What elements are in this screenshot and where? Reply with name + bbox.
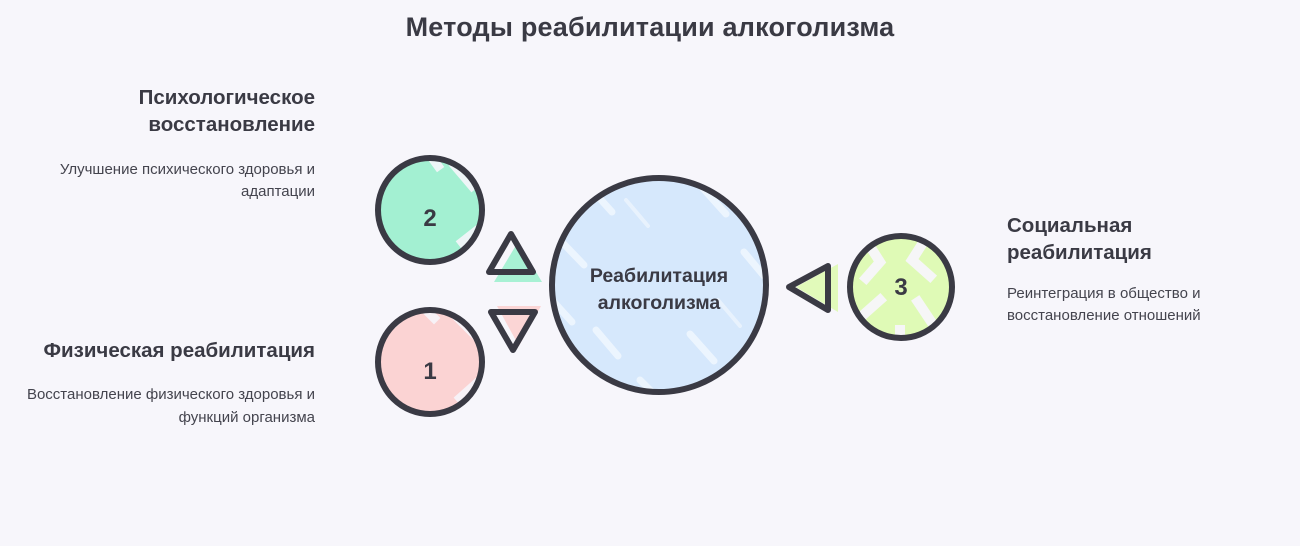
label-physical-rehabilitation: Физическая реабилитация Восстановление ф… (20, 337, 315, 429)
label-psychological-recovery-description: Улучшение психического здоровья и адапта… (20, 159, 315, 204)
label-social-rehabilitation: Социальная реабилитация Реинтеграция в о… (1007, 212, 1277, 328)
diagram-canvas: Методы реабилитации алкоголизма (0, 0, 1300, 546)
label-social-rehabilitation-description: Реинтеграция в общество и восстановление… (1007, 283, 1277, 328)
label-psychological-recovery-heading: Психологическое восстановление (20, 84, 315, 139)
hub-circle[interactable] (552, 178, 766, 404)
triangle-up-icon (489, 234, 542, 282)
label-physical-rehabilitation-description: Восстановление физического здоровья и фу… (20, 384, 315, 429)
node-circle-3[interactable] (850, 236, 952, 342)
triangle-left-icon (789, 264, 838, 312)
label-psychological-recovery: Психологическое восстановление Улучшение… (20, 84, 315, 204)
label-social-rehabilitation-heading: Социальная реабилитация (1007, 212, 1277, 267)
node-circle-2[interactable] (378, 155, 482, 264)
node-circle-1[interactable] (378, 308, 482, 414)
label-physical-rehabilitation-heading: Физическая реабилитация (20, 337, 315, 364)
triangle-down-icon (491, 306, 541, 350)
